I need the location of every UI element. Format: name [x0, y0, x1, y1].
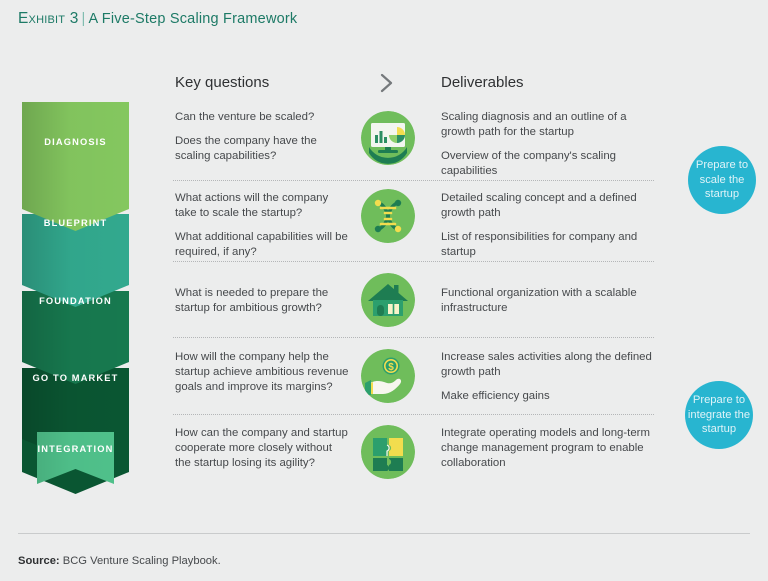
- question-text: What is needed to prepare the startup fo…: [175, 286, 350, 316]
- questions-cell-blueprint: What actions will the company take to sc…: [175, 191, 350, 260]
- deliverable-text: List of responsibilities for company and…: [441, 230, 656, 260]
- dna-helix-icon: [361, 189, 415, 243]
- row-separator: [173, 180, 654, 181]
- question-text: How can the company and startup cooperat…: [175, 426, 350, 471]
- question-text: Does the company have the scaling capabi…: [175, 134, 350, 164]
- questions-cell-integration: How can the company and startup cooperat…: [175, 426, 350, 471]
- row-separator: [173, 414, 654, 415]
- deliverable-text: Make efficiency gains: [441, 389, 656, 404]
- deliverables-cell-integration: Integrate operating models and long-term…: [441, 426, 656, 471]
- hand-coin-icon: $: [361, 349, 415, 403]
- bubble-label: Prepare to integrate the startup: [685, 393, 753, 437]
- puzzle-pieces-icon: [361, 425, 415, 479]
- row-separator: [173, 261, 654, 262]
- question-text: What additional capabilities will be req…: [175, 230, 350, 260]
- bubble-prepare-to-scale: Prepare to scale the startup: [688, 146, 756, 214]
- deliverables-cell-go-to-market: Increase sales activities along the defi…: [441, 350, 656, 404]
- deliverable-text: Increase sales activities along the defi…: [441, 350, 656, 380]
- deliverable-text: Scaling diagnosis and an outline of a gr…: [441, 110, 656, 140]
- deliverables-cell-blueprint: Detailed scaling concept and a defined g…: [441, 191, 656, 260]
- footer-divider: [18, 533, 750, 534]
- row-separator: [173, 337, 654, 338]
- source-text: BCG Venture Scaling Playbook.: [63, 555, 221, 567]
- deliverable-text: Functional organization with a scalable …: [441, 286, 656, 316]
- svg-text:$: $: [388, 362, 394, 373]
- question-text: Can the venture be scaled?: [175, 110, 350, 125]
- source-note: Source: BCG Venture Scaling Playbook.: [18, 555, 221, 567]
- questions-cell-go-to-market: How will the company help the startup ac…: [175, 350, 350, 395]
- questions-cell-foundation: What is needed to prepare the startup fo…: [175, 286, 350, 316]
- bubble-prepare-to-integrate: Prepare to integrate the startup: [685, 381, 753, 449]
- source-label: Source:: [18, 555, 60, 567]
- deliverable-text: Overview of the company's scaling capabi…: [441, 149, 656, 179]
- question-text: How will the company help the startup ac…: [175, 350, 350, 395]
- questions-cell-diagnosis: Can the venture be scaled? Does the comp…: [175, 110, 350, 164]
- house-icon: [361, 273, 415, 327]
- deliverable-text: Detailed scaling concept and a defined g…: [441, 191, 656, 221]
- bubble-label: Prepare to scale the startup: [688, 158, 756, 202]
- deliverables-cell-diagnosis: Scaling diagnosis and an outline of a gr…: [441, 110, 656, 179]
- deliverables-cell-foundation: Functional organization with a scalable …: [441, 286, 656, 316]
- monitor-chart-icon: [361, 111, 415, 165]
- question-text: What actions will the company take to sc…: [175, 191, 350, 221]
- deliverable-text: Integrate operating models and long-term…: [441, 426, 656, 471]
